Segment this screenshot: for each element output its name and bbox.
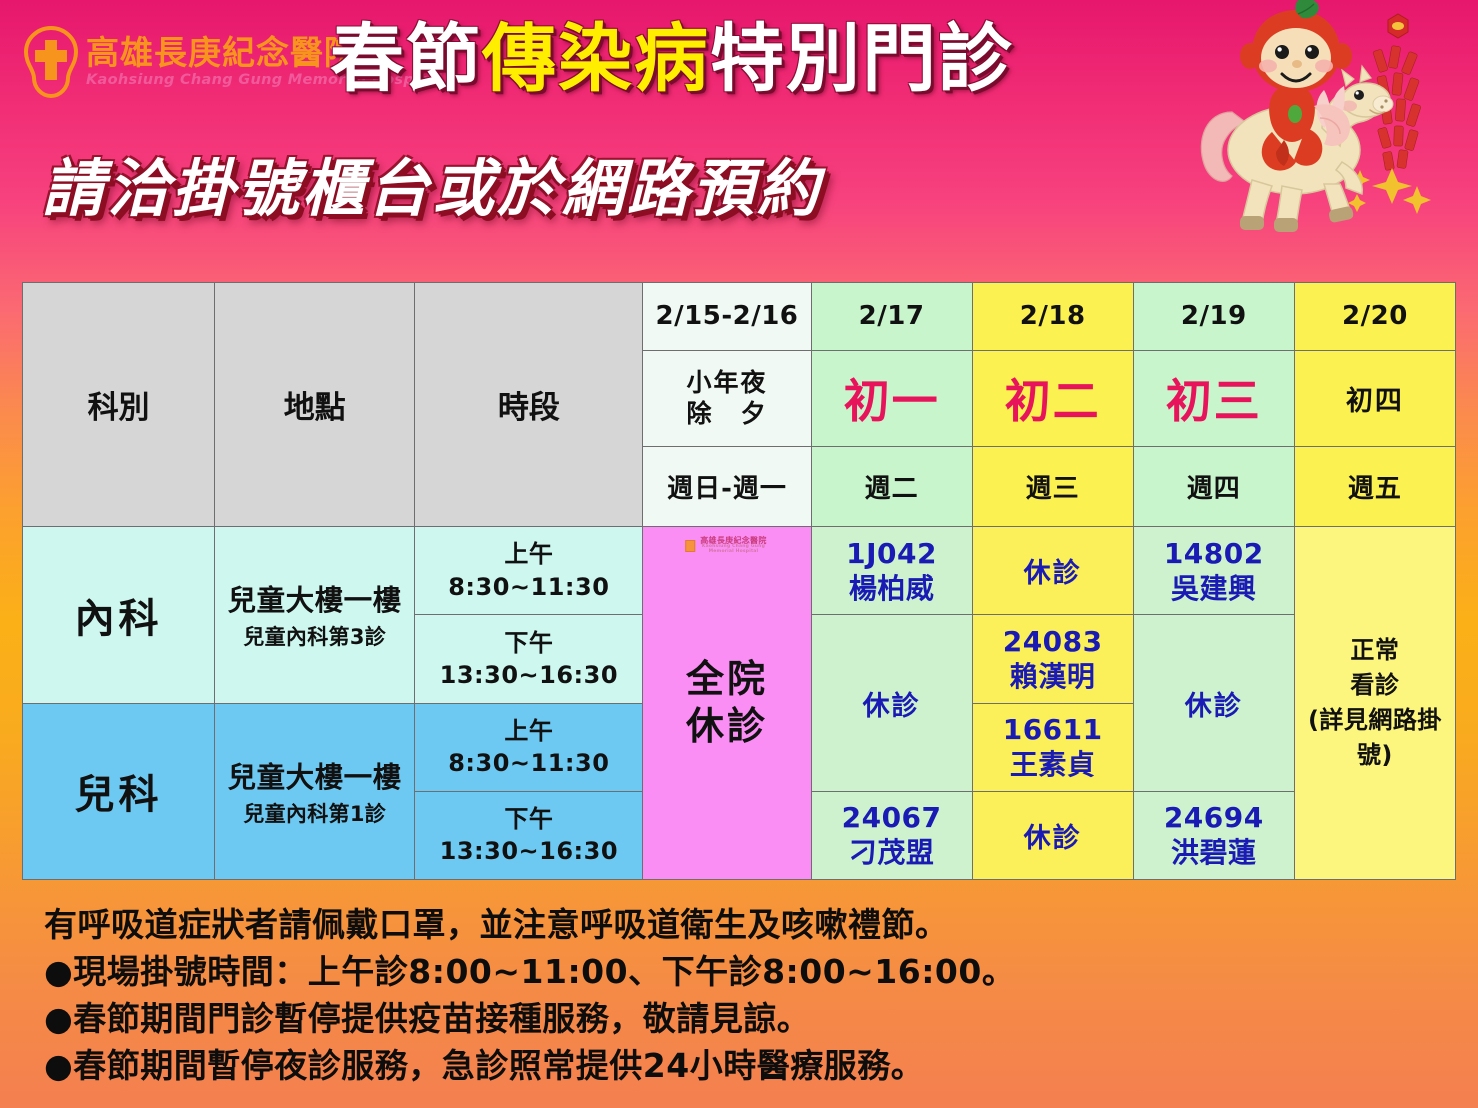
footer-notes: 有呼吸道症狀者請佩戴口罩，並注意呼吸道衛生及咳嗽禮節。 ●現場掛號時間：上午診8… xyxy=(44,902,1444,1089)
lunar-header-2: 初二 xyxy=(972,350,1133,446)
lunar-header-0-line1: 小年夜 xyxy=(643,367,810,398)
normal-note-line3: (詳見網路掛號) xyxy=(1295,703,1455,773)
monkey-riding-horse-mascot-icon xyxy=(1174,0,1474,235)
cell-0219-mid-closed: 休診 xyxy=(1133,615,1294,791)
footer-note-2: ●春節期間門診暫停提供疫苗接種服務，敬請見諒。 xyxy=(44,996,1444,1043)
date-header-4: 2/20 xyxy=(1294,283,1455,351)
slot-internal-pm-time: 13:30~16:30 xyxy=(415,659,642,691)
date-header-3: 2/19 xyxy=(1133,283,1294,351)
hospital-logo-watermark: 高雄長庚紀念醫院 Kaohsiung Chang Gung Memorial H… xyxy=(685,537,769,554)
cell-0219-pediatrics-pm: 24694 洪碧蓮 xyxy=(1133,791,1294,879)
cell-0217-mid-closed: 休診 xyxy=(811,615,972,791)
slot-pediatrics-pm: 下午 13:30~16:30 xyxy=(415,791,643,879)
cell-0218-internal-pm-name: 賴漢明 xyxy=(973,659,1133,694)
cell-0219-pediatrics-pm-name: 洪碧蓮 xyxy=(1134,835,1294,870)
column-header-slot: 時段 xyxy=(415,283,643,527)
column-header-location: 地點 xyxy=(215,283,415,527)
slot-internal-pm-period: 下午 xyxy=(415,627,642,659)
poster-header: 高雄長庚紀念醫院 Kaohsiung Chang Gung Memorial H… xyxy=(0,0,1478,150)
weekday-header-2: 週三 xyxy=(972,447,1133,527)
watermark-cross-icon xyxy=(685,540,695,552)
schedule-table-container: 科別 地點 時段 2/15-2/16 2/17 2/18 2/19 2/20 小… xyxy=(22,282,1456,880)
dept-pediatrics: 兒科 xyxy=(23,703,215,879)
slot-pediatrics-pm-time: 13:30~16:30 xyxy=(415,835,642,867)
cell-0218-internal-pm: 24083 賴漢明 xyxy=(972,615,1133,703)
lunar-header-4: 初四 xyxy=(1294,350,1455,446)
normal-note-line2: 看診 xyxy=(1295,668,1455,703)
slot-pediatrics-am-time: 8:30~11:30 xyxy=(415,747,642,779)
cell-0218-pediatrics-am-code: 16611 xyxy=(973,712,1133,747)
cell-0218-internal-am: 休診 xyxy=(972,527,1133,615)
cell-0220-normal-clinic: 正常 看診 (詳見網路掛號) xyxy=(1294,527,1455,880)
cell-0218-pediatrics-am: 16611 王素貞 xyxy=(972,703,1133,791)
cell-0217-pediatrics-pm: 24067 刁茂盟 xyxy=(811,791,972,879)
lunar-header-0-line2: 除 夕 xyxy=(643,398,810,429)
cell-0219-internal-am-code: 14802 xyxy=(1134,536,1294,571)
footer-note-3: ●春節期間暫停夜診服務，急診照常提供24小時醫療服務。 xyxy=(44,1043,1444,1090)
hospital-cross-logo-icon xyxy=(22,26,80,98)
table-header-row-dates: 科別 地點 時段 2/15-2/16 2/17 2/18 2/19 2/20 xyxy=(23,283,1456,351)
table-row-internal-am: 內科 兒童大樓一樓 兒童內科第3診 上午 8:30~11:30 高雄長庚紀念醫院… xyxy=(23,527,1456,615)
location-internal-main: 兒童大樓一樓 xyxy=(215,578,414,619)
location-pediatrics: 兒童大樓一樓 兒童內科第1診 xyxy=(215,703,415,879)
slot-internal-pm: 下午 13:30~16:30 xyxy=(415,615,643,703)
date-header-1: 2/17 xyxy=(811,283,972,351)
footer-note-1: ●現場掛號時間：上午診8:00~11:00、下午診8:00~16:00。 xyxy=(44,949,1444,996)
page-title: 春節傳染病特別門診 xyxy=(330,22,1014,96)
cell-0218-pediatrics-am-name: 王素貞 xyxy=(973,747,1133,782)
cell-0217-internal-am-code: 1J042 xyxy=(812,536,972,571)
title-part1: 春節 xyxy=(330,16,482,102)
slot-pediatrics-am-period: 上午 xyxy=(415,715,642,747)
location-pediatrics-main: 兒童大樓一樓 xyxy=(215,755,414,796)
lunar-header-3: 初三 xyxy=(1133,350,1294,446)
lunar-header-0: 小年夜 除 夕 xyxy=(643,350,811,446)
cell-0217-internal-am: 1J042 楊柏威 xyxy=(811,527,972,615)
cell-0217-pediatrics-pm-name: 刁茂盟 xyxy=(812,835,972,870)
lunar-header-1: 初一 xyxy=(811,350,972,446)
watermark-name-en: Kaohsiung Chang Gung Memorial Hospital xyxy=(698,545,769,554)
footer-note-0: 有呼吸道症狀者請佩戴口罩，並注意呼吸道衛生及咳嗽禮節。 xyxy=(44,902,1444,949)
slot-internal-am-period: 上午 xyxy=(415,538,642,570)
date-header-2: 2/18 xyxy=(972,283,1133,351)
title-part2: 特別門診 xyxy=(710,16,1014,102)
weekday-header-3: 週四 xyxy=(1133,447,1294,527)
weekday-header-1: 週二 xyxy=(811,447,972,527)
slot-pediatrics-am: 上午 8:30~11:30 xyxy=(415,703,643,791)
page-subtitle: 請洽掛號櫃台或於網路預約 xyxy=(42,158,822,220)
location-internal-sub: 兒童內科第3診 xyxy=(215,621,414,651)
title-highlight: 傳染病 xyxy=(482,16,710,102)
normal-note-line1: 正常 xyxy=(1295,633,1455,668)
dept-internal-medicine: 內科 xyxy=(23,527,215,703)
location-internal-medicine: 兒童大樓一樓 兒童內科第3診 xyxy=(215,527,415,703)
cell-closed-all-hospital: 高雄長庚紀念醫院 Kaohsiung Chang Gung Memorial H… xyxy=(643,527,811,880)
slot-pediatrics-pm-period: 下午 xyxy=(415,803,642,835)
cell-0218-pediatrics-pm: 休診 xyxy=(972,791,1133,879)
weekday-header-0: 週日-週一 xyxy=(643,447,811,527)
slot-internal-am-time: 8:30~11:30 xyxy=(415,571,642,603)
slot-internal-am: 上午 8:30~11:30 xyxy=(415,527,643,615)
closed-all-line2: 休診 xyxy=(643,703,810,751)
cell-0219-internal-am: 14802 吳建興 xyxy=(1133,527,1294,615)
closed-all-line1: 全院 xyxy=(643,656,810,704)
weekday-header-4: 週五 xyxy=(1294,447,1455,527)
cell-0219-pediatrics-pm-code: 24694 xyxy=(1134,800,1294,835)
cell-0219-internal-am-name: 吳建興 xyxy=(1134,571,1294,606)
clinic-schedule-table: 科別 地點 時段 2/15-2/16 2/17 2/18 2/19 2/20 小… xyxy=(22,282,1456,880)
cell-0217-pediatrics-pm-code: 24067 xyxy=(812,800,972,835)
cell-0217-internal-am-name: 楊柏威 xyxy=(812,571,972,606)
column-header-dept: 科別 xyxy=(23,283,215,527)
date-header-0: 2/15-2/16 xyxy=(643,283,811,351)
location-pediatrics-sub: 兒童內科第1診 xyxy=(215,798,414,828)
cell-0218-internal-pm-code: 24083 xyxy=(973,624,1133,659)
